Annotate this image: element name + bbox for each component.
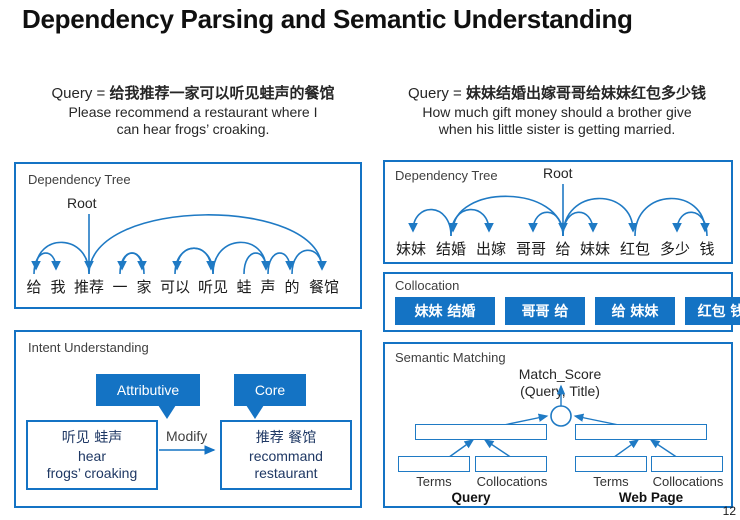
dependency-arc [89, 215, 322, 274]
right-query-english-line2: when his little sister is getting marrie… [378, 121, 736, 138]
token: 一 [110, 276, 130, 297]
semantic-label-query-terms: Terms [398, 474, 470, 489]
token: 我 [48, 276, 68, 297]
right-query-block: Query = 妹妹结婚出嫁哥哥给妹妹红包多少钱 How much gift m… [378, 84, 736, 138]
collocation-chip[interactable]: 红包 钱 [685, 297, 740, 325]
left-query-chinese: 给我推荐一家可以听见蛙声的餐馆 [109, 85, 334, 102]
token: 多少 [657, 238, 693, 259]
semantic-matching-panel: Semantic Matching Match_Score (Query, Ti… [383, 342, 733, 508]
left-query-block: Query = 给我推荐一家可以听见蛙声的餐馆 Please recommend… [18, 84, 368, 138]
left-dependency-tree-panel: Dependency Tree Root 给我推荐一家可以听见蛙声的餐馆 [14, 162, 362, 309]
collocation-label: Collocation [395, 278, 459, 293]
right-query-english-line1: How much gift money should a brother giv… [378, 104, 736, 121]
semantic-node-webpage-terms [575, 456, 647, 472]
semantic-label-webpage-collocations: Collocations [645, 474, 731, 489]
dependency-arc [244, 253, 266, 274]
semantic-group-query: Query [425, 490, 517, 505]
token: 听见 [196, 276, 230, 297]
dependency-arc [451, 210, 489, 236]
token: 家 [134, 276, 154, 297]
token: 蛙 [234, 276, 254, 297]
semantic-label-webpage-terms: Terms [575, 474, 647, 489]
right-query-chinese: 妹妹结婚出嫁哥哥给妹妹红包多少钱 [466, 85, 706, 102]
left-token-row: 给我推荐一家可以听见蛙声的餐馆 [24, 276, 346, 297]
token: 给 [24, 276, 44, 297]
token: 妹妹 [393, 238, 429, 259]
token: 红包 [617, 238, 653, 259]
modify-arrow-icon [16, 332, 364, 510]
token: 餐馆 [306, 276, 342, 297]
token: 结婚 [433, 238, 469, 259]
collocation-chip[interactable]: 哥哥 给 [505, 297, 585, 325]
dependency-arc [34, 253, 56, 274]
semantic-node-query-collocations [475, 456, 547, 472]
collocation-panel: Collocation 妹妹 结婚哥哥 给给 妹妹红包 钱 [383, 272, 733, 332]
token: 妹妹 [577, 238, 613, 259]
left-query-label: Query = [52, 85, 106, 102]
dependency-arc [635, 199, 705, 236]
collocation-chip[interactable]: 给 妹妹 [595, 297, 675, 325]
slide-canvas: Dependency Parsing and Semantic Understa… [0, 0, 740, 520]
dependency-arc [292, 250, 322, 274]
right-token-row: 妹妹结婚出嫁哥哥给妹妹红包多少钱 [393, 238, 721, 259]
semantic-label-query-collocations: Collocations [469, 474, 555, 489]
left-query-english-line2: can hear frogs’ croaking. [18, 121, 368, 138]
token: 声 [258, 276, 278, 297]
page-number: 12 [723, 504, 736, 518]
right-dependency-tree-panel: Dependency Tree Root 妹妹结婚出嫁哥哥给妹妹红包多少钱 [383, 160, 733, 264]
dependency-arc [413, 210, 451, 236]
semantic-node-query-mid [415, 424, 547, 440]
semantic-node-webpage-collocations [651, 456, 723, 472]
token: 给 [553, 238, 573, 259]
right-query-label: Query = [408, 85, 462, 102]
semantic-node-webpage-mid [575, 424, 707, 440]
token: 哥哥 [513, 238, 549, 259]
semantic-group-webpage: Web Page [597, 490, 705, 505]
token: 的 [282, 276, 302, 297]
collocation-chip-row: 妹妹 结婚哥哥 给给 妹妹红包 钱 [395, 297, 740, 325]
dependency-arc [533, 212, 563, 236]
dependency-arc [213, 242, 266, 274]
semantic-node-query-terms [398, 456, 470, 472]
page-title: Dependency Parsing and Semantic Understa… [22, 4, 722, 35]
dependency-arc [563, 199, 633, 236]
left-query-headline: Query = 给我推荐一家可以听见蛙声的餐馆 [18, 84, 368, 104]
dependency-arc [453, 196, 563, 236]
collocation-chip[interactable]: 妹妹 结婚 [395, 297, 495, 325]
token: 推荐 [72, 276, 106, 297]
right-query-headline: Query = 妹妹结婚出嫁哥哥给妹妹红包多少钱 [378, 84, 736, 104]
dependency-arc [36, 242, 89, 274]
token: 出嫁 [473, 238, 509, 259]
token: 可以 [158, 276, 192, 297]
token: 钱 [697, 238, 717, 259]
left-query-english-line1: Please recommend a restaurant where I [18, 104, 368, 121]
intent-understanding-panel: Intent Understanding Attributive Core 听见… [14, 330, 362, 508]
dependency-arc [268, 253, 290, 274]
